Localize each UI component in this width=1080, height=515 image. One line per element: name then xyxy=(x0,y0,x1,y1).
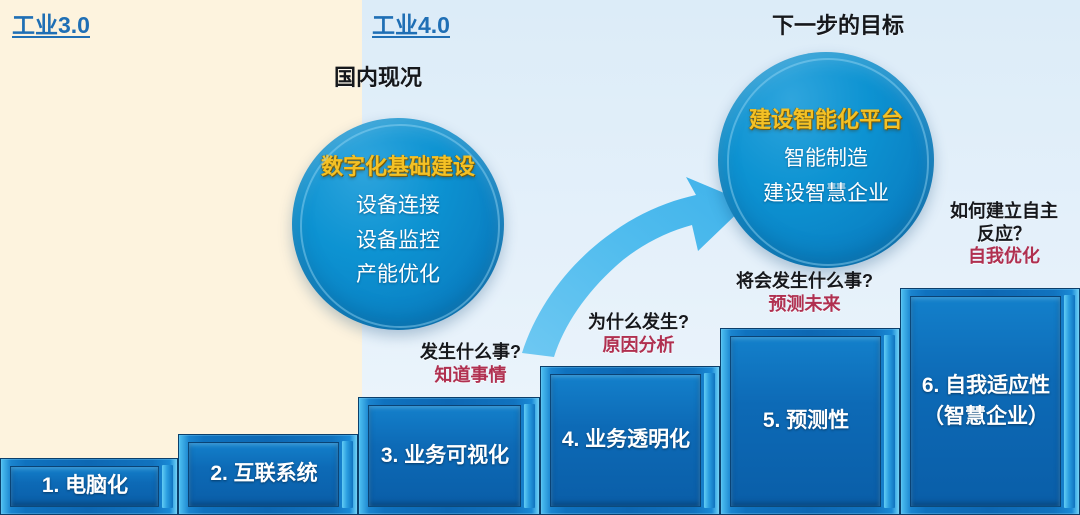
circle1-line-1: 设备连接 xyxy=(356,189,440,224)
step-bar-6[interactable]: 6. 自我适应性（智慧企业） xyxy=(900,288,1080,515)
step-bar-2-cap xyxy=(342,441,353,508)
circle-intelligent-platform: 建设智能化平台 智能制造 建设智慧企业 xyxy=(718,52,934,268)
step-bar-6-label: 6. 自我适应性（智慧企业） xyxy=(908,371,1072,432)
annotation-step-5-question: 将会发生什么事? xyxy=(736,270,873,293)
annotation-step-6: 如何建立自主反应？ 自我优化 xyxy=(950,200,1058,268)
slide-canvas: 工业3.0 工业4.0 国内现况 下一步的目标 数字化基础建设 设备连接 设备监… xyxy=(0,0,1080,515)
step-bar-1-label: 1. 电脑化 xyxy=(28,471,150,501)
step-bar-5-label: 5. 预测性 xyxy=(749,406,871,436)
step-bar-4[interactable]: 4. 业务透明化 xyxy=(540,366,720,515)
step-bar-3[interactable]: 3. 业务可视化 xyxy=(358,397,540,515)
era-label-industry-4: 工业4.0 xyxy=(372,6,450,40)
annotation-step-5: 将会发生什么事? 预测未来 xyxy=(736,270,873,316)
annotation-step-4: 为什么发生? 原因分析 xyxy=(588,311,689,357)
circle2-line-2: 建设智慧企业 xyxy=(763,177,889,212)
era-label-industry-3: 工业3.0 xyxy=(12,6,90,40)
circle2-title: 建设智能化平台 xyxy=(749,108,903,132)
circle1-line-2: 设备监控 xyxy=(356,224,440,259)
step-bar-5-cap xyxy=(884,335,895,508)
annotation-step-6-answer: 自我优化 xyxy=(950,245,1058,268)
annotation-step-5-answer: 预测未来 xyxy=(736,293,873,316)
step-bar-1[interactable]: 1. 电脑化 xyxy=(0,458,178,515)
annotation-step-3: 发生什么事? 知道事情 xyxy=(420,341,521,387)
circle1-title: 数字化基础建设 xyxy=(321,155,475,179)
circle1-line-3: 产能优化 xyxy=(356,258,440,293)
annotation-step-3-question: 发生什么事? xyxy=(420,341,521,364)
annotation-step-4-answer: 原因分析 xyxy=(588,334,689,357)
annotation-step-3-answer: 知道事情 xyxy=(420,364,521,387)
step-bar-3-label: 3. 业务可视化 xyxy=(367,441,531,471)
annotation-step-4-question: 为什么发生? xyxy=(588,311,689,334)
heading-domestic-status: 国内现况 xyxy=(334,60,422,92)
step-bar-2[interactable]: 2. 互联系统 xyxy=(178,434,358,515)
step-bar-4-label: 4. 业务透明化 xyxy=(548,425,712,455)
heading-next-goal: 下一步的目标 xyxy=(772,8,904,40)
step-bar-2-label: 2. 互联系统 xyxy=(196,459,339,489)
step-bar-1-cap xyxy=(162,465,173,508)
circle2-line-1: 智能制造 xyxy=(784,142,868,177)
annotation-step-6-question: 如何建立自主反应？ xyxy=(950,200,1058,245)
circle-digitalization-foundation: 数字化基础建设 设备连接 设备监控 产能优化 xyxy=(292,118,504,330)
step-bar-5[interactable]: 5. 预测性 xyxy=(720,328,900,515)
